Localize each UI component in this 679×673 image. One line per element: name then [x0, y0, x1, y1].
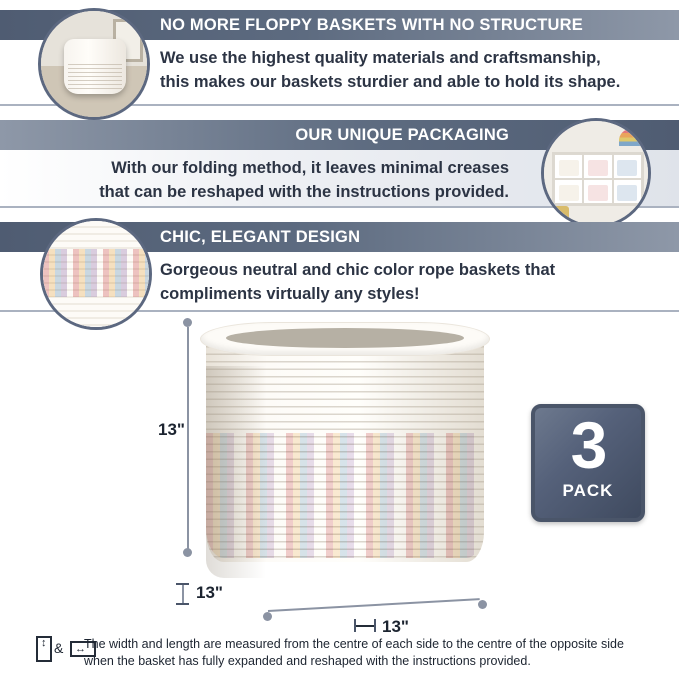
shelf-cell — [554, 154, 583, 179]
photo-background — [43, 221, 149, 327]
badge-count: 3 — [535, 408, 641, 482]
feature-packaging-body-line1: With our folding method, it leaves minim… — [0, 156, 509, 180]
vertical-arrow-glyph: ↕ — [41, 638, 47, 649]
shelf-cell — [613, 154, 642, 179]
shelf-with-baskets-photo — [541, 118, 651, 228]
shelf-cell — [583, 179, 612, 204]
shelf-cell — [613, 179, 642, 204]
measurement-note-line1: The width and length are measured from t… — [84, 636, 669, 653]
photo-basket — [64, 39, 125, 94]
rainbow-decor — [619, 129, 642, 146]
shelf-unit — [552, 152, 643, 206]
feature-structure-body-line2: this makes our baskets sturdier and able… — [160, 70, 679, 94]
height-dimension-line — [187, 327, 189, 549]
photo-background — [41, 11, 147, 117]
shelf-basket — [588, 160, 608, 176]
toy-decor — [552, 206, 569, 221]
dim-dot-bottom-left — [183, 548, 192, 557]
width-arrow-stem — [356, 625, 374, 627]
measurement-note-line2: when the basket has fully expanded and r… — [84, 653, 669, 670]
dim-dot-top-left — [183, 318, 192, 327]
shelf-cell — [583, 154, 612, 179]
width-dimension-line — [268, 598, 480, 612]
feature-design-title-text: CHIC, ELEGANT DESIGN — [160, 228, 360, 247]
rope-color-flecks — [43, 249, 149, 298]
width-dimension-label: 13" — [382, 617, 409, 637]
shelf-basket — [559, 185, 579, 201]
depth-dimension-label: 13" — [196, 583, 223, 603]
ampersand-label: & — [54, 640, 63, 656]
dim-dot-bottom-right — [478, 600, 487, 609]
three-pack-badge: 3 PACK — [531, 404, 645, 522]
product-infographic: NO MORE FLOPPY BASKETS WITH NO STRUCTURE… — [0, 0, 679, 673]
main-basket-illustration — [200, 322, 490, 562]
photo-background — [544, 121, 648, 225]
depth-arrow-stem — [182, 585, 184, 603]
feature-packaging-title-text: OUR UNIQUE PACKAGING — [295, 126, 509, 145]
height-dimension-label: 13" — [158, 420, 185, 440]
basket-side-shading — [206, 366, 266, 578]
shelf-basket — [588, 185, 608, 201]
basket-interior — [226, 328, 464, 348]
feature-design-body-line2: compliments virtually any styles! — [160, 282, 679, 306]
basket-on-floor-photo — [38, 8, 150, 120]
feature-structure-title-text: NO MORE FLOPPY BASKETS WITH NO STRUCTURE — [160, 16, 583, 35]
feature-packaging-body-line2: that can be reshaped with the instructio… — [0, 180, 509, 204]
badge-label: PACK — [535, 482, 641, 500]
feature-design-body-line1: Gorgeous neutral and chic color rope bas… — [160, 258, 679, 282]
shelf-cell — [554, 179, 583, 204]
shelf-basket — [617, 160, 637, 176]
dim-dot-bottom-center — [263, 612, 272, 621]
measurement-note-text: The width and length are measured from t… — [84, 636, 669, 670]
shelf-basket — [617, 185, 637, 201]
basket-body — [206, 340, 484, 562]
feature-structure-body-line1: We use the highest quality materials and… — [160, 46, 679, 70]
shelf-basket — [559, 160, 579, 176]
rope-texture-closeup-photo — [40, 218, 152, 330]
